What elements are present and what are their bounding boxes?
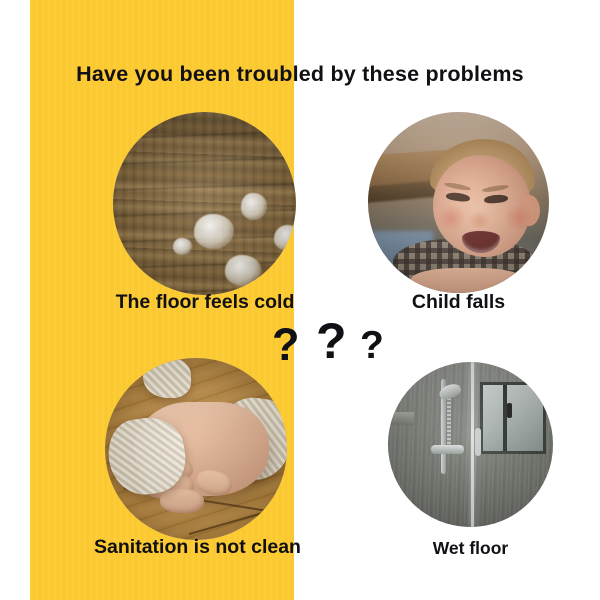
image-floor-cold xyxy=(113,112,296,295)
image-wet-floor xyxy=(388,362,553,527)
caption-child-falls: Child falls xyxy=(368,291,549,314)
promo-poster: Have you been troubled by these problems… xyxy=(0,0,600,600)
question-mark-icon: ? xyxy=(360,326,384,365)
image-vignette xyxy=(368,112,549,293)
question-mark-icon: ? xyxy=(272,322,300,367)
image-child-falls xyxy=(368,112,549,293)
image-vignette xyxy=(388,362,553,527)
question-marks-group: ? ? ? xyxy=(272,316,392,372)
question-mark-icon: ? xyxy=(316,316,347,366)
image-vignette xyxy=(105,358,287,540)
caption-floor-cold: The floor feels cold xyxy=(113,291,297,314)
image-sanitation xyxy=(105,358,287,540)
image-vignette xyxy=(113,112,296,295)
caption-wet-floor: Wet floor xyxy=(388,538,553,559)
caption-sanitation: Sanitation is not clean xyxy=(90,536,305,559)
page-title: Have you been troubled by these problems xyxy=(0,62,600,87)
